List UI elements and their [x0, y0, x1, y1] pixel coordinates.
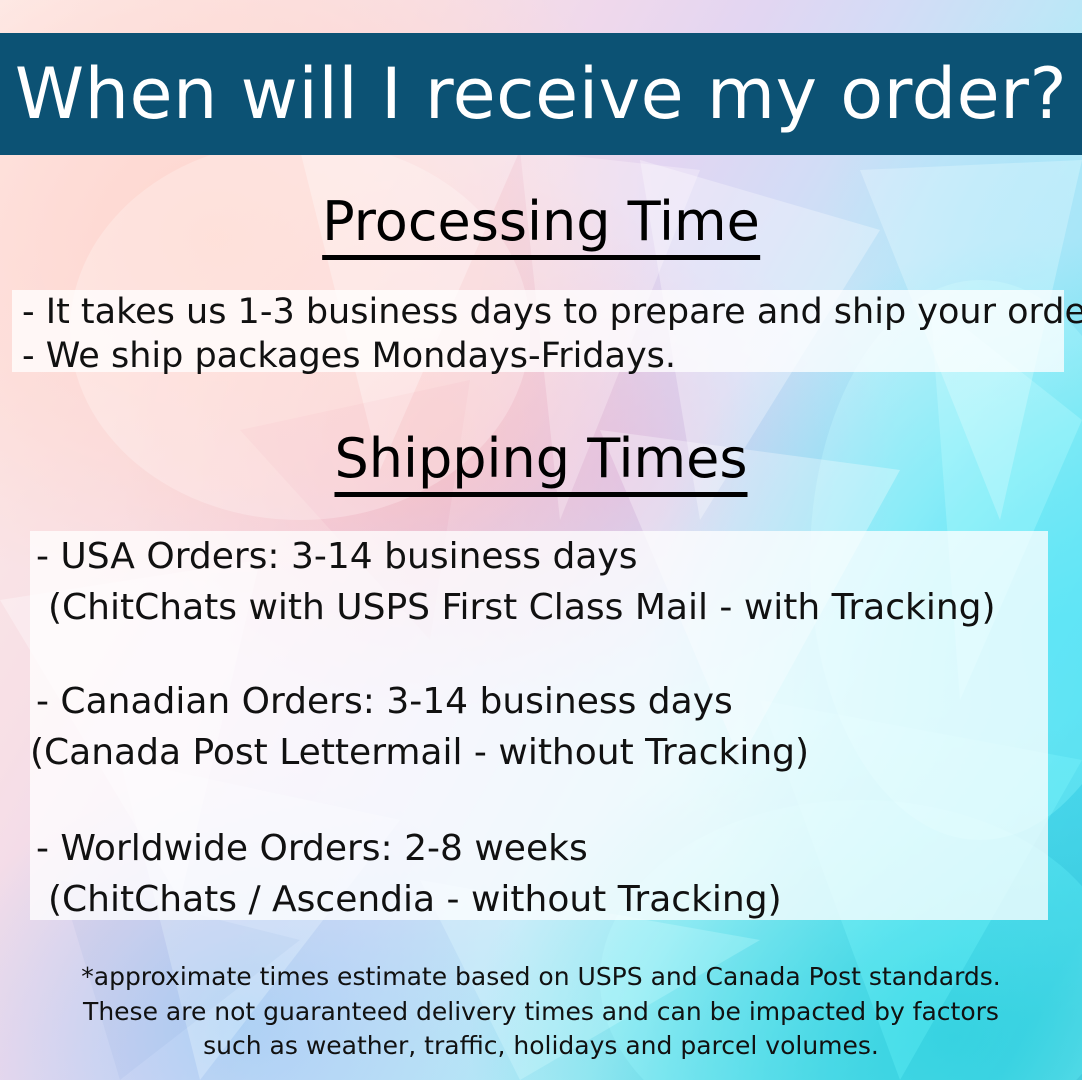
footnote-disclaimer: *approximate times estimate based on USP…: [0, 960, 1082, 1064]
shipping-worldwide-line-2: (ChitChats / Ascendia - without Tracking…: [36, 874, 782, 925]
shipping-canada-line-2: (Canada Post Lettermail - without Tracki…: [30, 727, 809, 778]
shipping-usa-line-2: (ChitChats with USPS First Class Mail - …: [36, 582, 996, 633]
heading-shipping-times: Shipping Times: [334, 432, 747, 497]
shipping-block-worldwide: - Worldwide Orders: 2-8 weeks (ChitChats…: [36, 823, 782, 925]
shipping-canada-line-1: - Canadian Orders: 3-14 business days: [36, 676, 809, 727]
heading-processing-time: Processing Time: [322, 195, 760, 260]
footnote-line-3: such as weather, traffic, holidays and p…: [0, 1029, 1082, 1064]
shipping-worldwide-line-1: - Worldwide Orders: 2-8 weeks: [36, 823, 782, 874]
shipping-block-canada: - Canadian Orders: 3-14 business days (C…: [36, 676, 809, 778]
processing-line-2: - We ship packages Mondays-Fridays.: [22, 336, 676, 376]
shipping-info-poster: When will I receive my order? Processing…: [0, 0, 1082, 1080]
footnote-line-1: *approximate times estimate based on USP…: [0, 960, 1082, 995]
footnote-line-2: These are not guaranteed delivery times …: [0, 995, 1082, 1030]
page-title: When will I receive my order?: [15, 59, 1067, 129]
shipping-block-usa: - USA Orders: 3-14 business days (ChitCh…: [36, 531, 996, 633]
header-banner: When will I receive my order?: [0, 33, 1082, 155]
processing-line-1: - It takes us 1-3 business days to prepa…: [22, 292, 1082, 332]
shipping-usa-line-1: - USA Orders: 3-14 business days: [36, 531, 996, 582]
